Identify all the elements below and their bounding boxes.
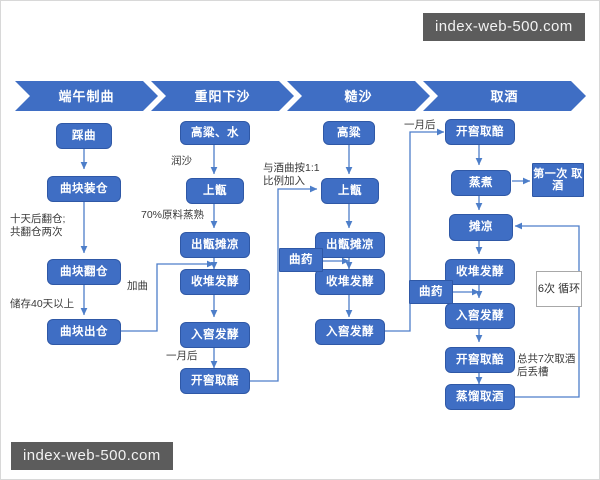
edge-label-c3-jiuqu-ratio: 与酒曲按1:1 比例加入 [263, 162, 320, 187]
node-c1-qukuai-chucang[interactable]: 曲块出仓 [47, 319, 121, 345]
node-c3-shoudui-fajiao[interactable]: 收堆发酵 [315, 269, 385, 295]
node-c2-shoudui-fajiao[interactable]: 收堆发酵 [180, 269, 250, 295]
edge-label-c2-runsha: 润沙 [171, 155, 192, 168]
stage-label-4: 取酒 [423, 86, 586, 105]
edge-label-c4-qujiu-count: 总共7次取酒 后丢槽 [517, 353, 575, 378]
node-c4-6ci-xunhuan: 6次 循环 [536, 271, 582, 307]
node-c2-kaijiao-qupei[interactable]: 开窖取醅 [180, 368, 250, 394]
edge-label-c2-jiaqu: 加曲 [127, 280, 148, 293]
edge-label-c2-zhengshu: 70%原料蒸熟 [141, 209, 204, 222]
node-c4-tanliang[interactable]: 摊凉 [449, 214, 513, 241]
node-c3-rujiao-fajiao[interactable]: 入窖发酵 [315, 319, 385, 345]
node-c1-qukuai-zhuangcang[interactable]: 曲块装仓 [47, 176, 121, 202]
edge-label-c1-fancang: 十天后翻仓; 共翻仓两次 [10, 213, 65, 238]
node-c1-caiqu[interactable]: 踩曲 [56, 123, 112, 149]
node-c1-qukuai-fancang[interactable]: 曲块翻仓 [47, 259, 121, 285]
edge-label-c2-yiyuehou: 一月后 [166, 350, 198, 363]
node-c4-shoudui-fajiao[interactable]: 收堆发酵 [445, 259, 515, 285]
node-c3-chuzeng-tanliang[interactable]: 出甑摊凉 [315, 232, 385, 258]
edge-label-c4-yiyuehou: 一月后 [404, 119, 436, 132]
node-c4-kaijiao-qupei-2[interactable]: 开窖取醅 [445, 347, 515, 373]
node-c4-quyao[interactable]: 曲药 [409, 280, 453, 304]
node-c4-kaijiao-qupei-1[interactable]: 开窖取醅 [445, 119, 515, 145]
node-c3-quyao[interactable]: 曲药 [279, 248, 323, 272]
watermark-top: index-web-500.com [423, 13, 585, 41]
node-c4-zhengzhu[interactable]: 蒸煮 [451, 170, 511, 196]
node-c2-shangzeng[interactable]: 上甑 [186, 178, 244, 204]
edge-label-c1-chucun: 储存40天以上 [10, 298, 74, 311]
node-c4-rujiao-fajiao[interactable]: 入窖发酵 [445, 303, 515, 329]
node-c2-rujiao-fajiao[interactable]: 入窖发酵 [180, 322, 250, 348]
node-c2-gaoliang-shui[interactable]: 高粱、水 [180, 121, 250, 145]
flowchart-canvas: 端午制曲 重阳下沙 糙沙 取酒 踩曲 曲块装仓 曲块翻仓 曲块出仓 十天后翻仓;… [0, 0, 600, 480]
node-c4-diyici-qujiu[interactable]: 第一次 取酒 [532, 163, 584, 197]
node-c2-chuzeng-tanliang[interactable]: 出甑摊凉 [180, 232, 250, 258]
node-c3-shangzeng[interactable]: 上甑 [321, 178, 379, 204]
watermark-bottom: index-web-500.com [11, 442, 173, 470]
stage-label-3: 糙沙 [287, 86, 430, 105]
stage-label-1: 端午制曲 [15, 86, 158, 105]
node-c4-zhengliu-qujiu[interactable]: 蒸馏取酒 [445, 384, 515, 410]
node-c3-gaoliang[interactable]: 高粱 [323, 121, 375, 145]
stage-label-2: 重阳下沙 [151, 86, 294, 105]
